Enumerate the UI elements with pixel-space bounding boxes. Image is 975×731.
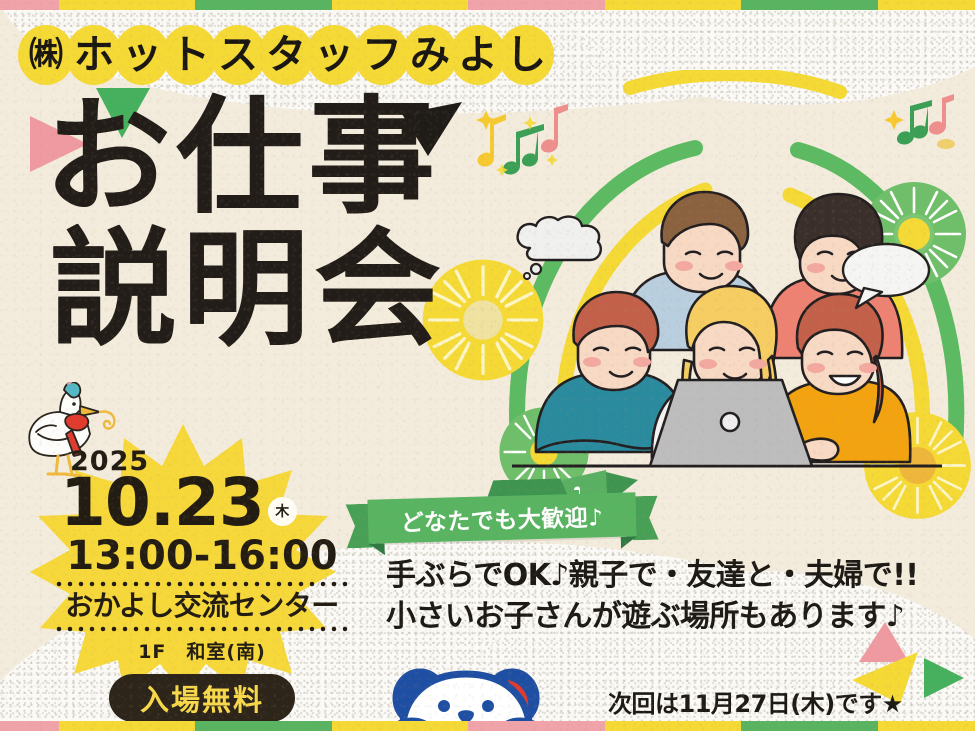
stripe-segment <box>878 0 975 10</box>
stripe-segment <box>0 721 59 731</box>
ribbon-body: どなたでも大歓迎♪ <box>367 492 636 543</box>
bottom-stripe-border <box>0 721 975 731</box>
dotted-divider-bottom <box>52 625 352 633</box>
company-name-char-label: ス <box>218 35 258 75</box>
dotted-divider-top <box>52 580 352 588</box>
company-name-char-label: フ <box>362 35 402 75</box>
promo-copy-line-1: 手ぶらでOK♪親子で・友達と・夫婦で!! <box>386 556 918 597</box>
promo-copy-line-2: 小さいお子さんが遊ぶ場所もあります♪ <box>386 597 918 638</box>
top-stripe-border <box>0 0 975 10</box>
next-session-note: 次回は11月27日(木)です★ <box>608 684 903 719</box>
stripe-segment <box>332 721 469 731</box>
thought-bubble-icon <box>510 214 610 292</box>
event-date: 10.23 <box>60 473 264 534</box>
ribbon-text: どなたでも大歓迎♪ <box>400 498 604 538</box>
company-name-char-label: ホ <box>74 35 114 75</box>
company-name: ㈱ホットスタッフみよし <box>18 24 546 86</box>
company-name-char-label: ㈱ <box>29 38 63 72</box>
company-name-char-label: タ <box>266 35 306 75</box>
music-notes-icon <box>468 100 578 182</box>
music-notes-icon-2 <box>880 92 964 154</box>
company-name-char-label: ッ <box>122 35 162 75</box>
event-venue: おかよし交流センター <box>52 590 352 622</box>
welcome-ribbon: どなたでも大歓迎♪ <box>367 492 636 543</box>
event-date-row: 10.23 木 <box>60 473 352 534</box>
stripe-segment <box>0 0 59 10</box>
company-name-char-label: み <box>410 35 450 75</box>
stripe-segment <box>59 0 196 10</box>
promo-copy: 手ぶらでOK♪親子で・友達と・夫婦で!! 小さいお子さんが遊ぶ場所もあります♪ <box>386 556 918 637</box>
stripe-segment <box>332 0 469 10</box>
stripe-segment <box>195 721 332 731</box>
admission-badge: 入場無料 <box>109 674 295 722</box>
stripe-segment <box>605 721 742 731</box>
title-line-1: お仕事 <box>44 96 446 218</box>
title-line-2: 説明会 <box>50 228 446 350</box>
stripe-segment <box>59 721 196 731</box>
page-title: お仕事 説明会 <box>44 96 446 350</box>
company-name-char-label: ッ <box>314 35 354 75</box>
bear-mascot-icon <box>386 656 546 731</box>
event-day-of-week: 木 <box>268 497 297 526</box>
event-details-block: 2025 10.23 木 13:00-16:00 おかよし交流センター 1F 和… <box>52 448 352 722</box>
event-room: 1F 和室(南) <box>52 637 352 664</box>
poster-canvas: ㈱ホットスタッフみよし お仕事 説明会 2025 10.23 木 13:00-1… <box>0 0 975 731</box>
company-name-char-label: し <box>506 35 546 75</box>
event-time: 13:00-16:00 <box>52 535 352 577</box>
stripe-segment <box>468 0 605 10</box>
stripe-segment <box>741 0 878 10</box>
stripe-segment <box>468 721 605 731</box>
company-name-char-label: よ <box>458 35 498 75</box>
stripe-segment <box>605 0 742 10</box>
speech-bubble-icon <box>838 240 934 316</box>
stripe-segment <box>195 0 332 10</box>
company-name-char: し <box>498 25 554 85</box>
company-name-char-label: ト <box>170 35 210 75</box>
stripe-segment <box>878 721 975 731</box>
stripe-segment <box>741 721 878 731</box>
